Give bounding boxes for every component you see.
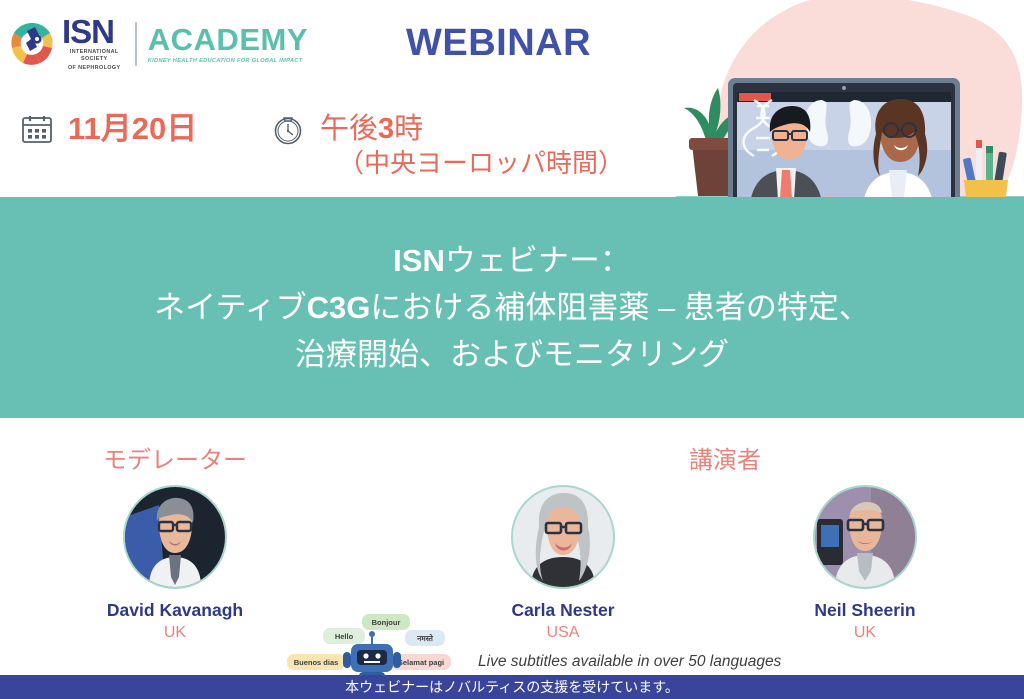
avatar-neil-sheerin <box>813 485 917 589</box>
webinar-date: 11月20日 <box>68 112 197 146</box>
person-name: Carla Nester <box>453 600 673 621</box>
svg-text:Selamat pagi: Selamat pagi <box>398 658 444 667</box>
svg-text:नमस्ते: नमस्ते <box>416 634 434 643</box>
svg-text:Buenos dias: Buenos dias <box>294 658 339 667</box>
isn-tagline-line2: OF NEPHROLOGY <box>62 65 126 72</box>
title-line-2: ネイティブC3Gにおける補体阻害薬 – 患者の特定、 <box>154 284 870 331</box>
logo-divider <box>135 22 136 66</box>
webinar-time: 午後3時 <box>320 112 624 146</box>
subtitle-note: Live subtitles available in over 50 lang… <box>478 653 781 671</box>
webinar-timezone: （中央ヨーロッパ時間） <box>338 146 624 180</box>
person-country: UK <box>755 624 975 642</box>
clock-icon <box>272 114 304 146</box>
person-name: Neil Sheerin <box>755 600 975 621</box>
isn-word: ISN <box>62 17 126 47</box>
person-card-speaker-1: Carla Nester USA <box>453 485 673 642</box>
webinar-poster: ISN INTERNATIONAL SOCIETY OF NEPHROLOGY … <box>0 0 1024 699</box>
avatar-carla-nester <box>511 485 615 589</box>
academy-word: ACADEMY <box>148 25 308 55</box>
person-country: USA <box>453 624 673 642</box>
person-country: UK <box>65 624 285 642</box>
moderator-label: モデレーター <box>95 440 255 475</box>
speakers-label: 講演者 <box>645 440 805 475</box>
isn-academy-logo: ISN INTERNATIONAL SOCIETY OF NEPHROLOGY … <box>8 18 308 70</box>
svg-text:Hello: Hello <box>335 632 354 641</box>
title-line-3: 治療開始、およびモニタリング <box>295 331 729 378</box>
svg-text:Bonjour: Bonjour <box>372 618 401 627</box>
webinar-label: WEBINAR <box>406 22 591 65</box>
title-band: ISNウェビナー： ネイティブC3Gにおける補体阻害薬 – 患者の特定、 治療開… <box>0 197 1024 418</box>
title-line-1: ISNウェビナー： <box>393 237 631 284</box>
time-text-group: 午後3時 （中央ヨーロッパ時間） <box>320 112 624 180</box>
time-row: 午後3時 （中央ヨーロッパ時間） <box>272 112 624 180</box>
person-card-moderator: David Kavanagh UK <box>65 485 285 642</box>
date-row: 11月20日 <box>20 112 197 146</box>
isn-logo-mark <box>8 20 56 68</box>
person-name: David Kavanagh <box>65 600 285 621</box>
avatar-david-kavanagh <box>123 485 227 589</box>
academy-wordmark: ACADEMY KIDNEY HEALTH EDUCATION FOR GLOB… <box>148 25 308 64</box>
academy-tagline: KIDNEY HEALTH EDUCATION FOR GLOBAL IMPAC… <box>148 58 308 64</box>
person-card-speaker-2: Neil Sheerin UK <box>755 485 975 642</box>
calendar-icon <box>20 112 54 146</box>
sponsor-footer: 本ウェビナーはノバルティスの支援を受けています。 <box>0 675 1024 699</box>
isn-wordmark: ISN INTERNATIONAL SOCIETY OF NEPHROLOGY <box>62 17 126 72</box>
sponsor-text: 本ウェビナーはノバルティスの支援を受けています。 <box>345 677 679 697</box>
isn-tagline-line1: INTERNATIONAL SOCIETY <box>62 49 126 63</box>
